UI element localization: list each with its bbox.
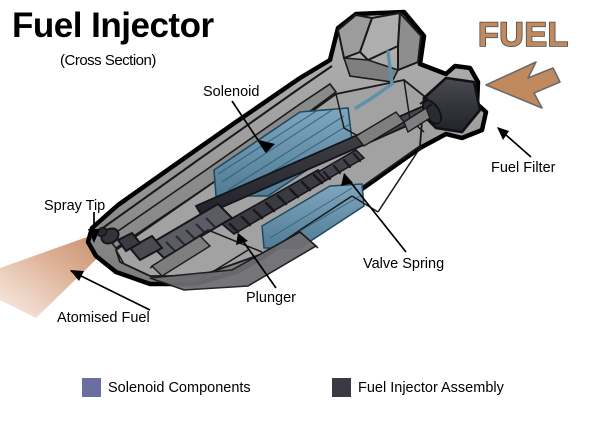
callout-label-valve-spring: Valve Spring [363, 256, 444, 272]
fuel-inlet-label: FUEL [478, 16, 569, 55]
legend: Solenoid Components Fuel Injector Assemb… [0, 378, 600, 404]
callout-label-solenoid: Solenoid [203, 84, 259, 100]
callout-label-fuel-filter: Fuel Filter [491, 160, 555, 176]
legend-label-solenoid-components: Solenoid Components [108, 380, 251, 396]
diagram-canvas: Fuel Injector (Cross Section) FUEL Solen… [0, 0, 600, 426]
arrowhead-fuel-filter [497, 127, 509, 140]
legend-swatch-solenoid-components [82, 378, 101, 397]
legend-item-fuel-injector-assembly: Fuel Injector Assembly [332, 378, 504, 397]
page-subtitle: (Cross Section) [60, 52, 156, 69]
callout-label-spray-tip: Spray Tip [44, 198, 105, 214]
page-title: Fuel Injector [12, 6, 214, 46]
legend-item-solenoid-components: Solenoid Components [82, 378, 251, 397]
callout-label-plunger: Plunger [246, 290, 296, 306]
fuel-inlet-arrow [486, 62, 560, 108]
legend-label-fuel-injector-assembly: Fuel Injector Assembly [358, 380, 504, 396]
callout-label-atomised-fuel: Atomised Fuel [57, 310, 150, 326]
legend-swatch-fuel-injector-assembly [332, 378, 351, 397]
